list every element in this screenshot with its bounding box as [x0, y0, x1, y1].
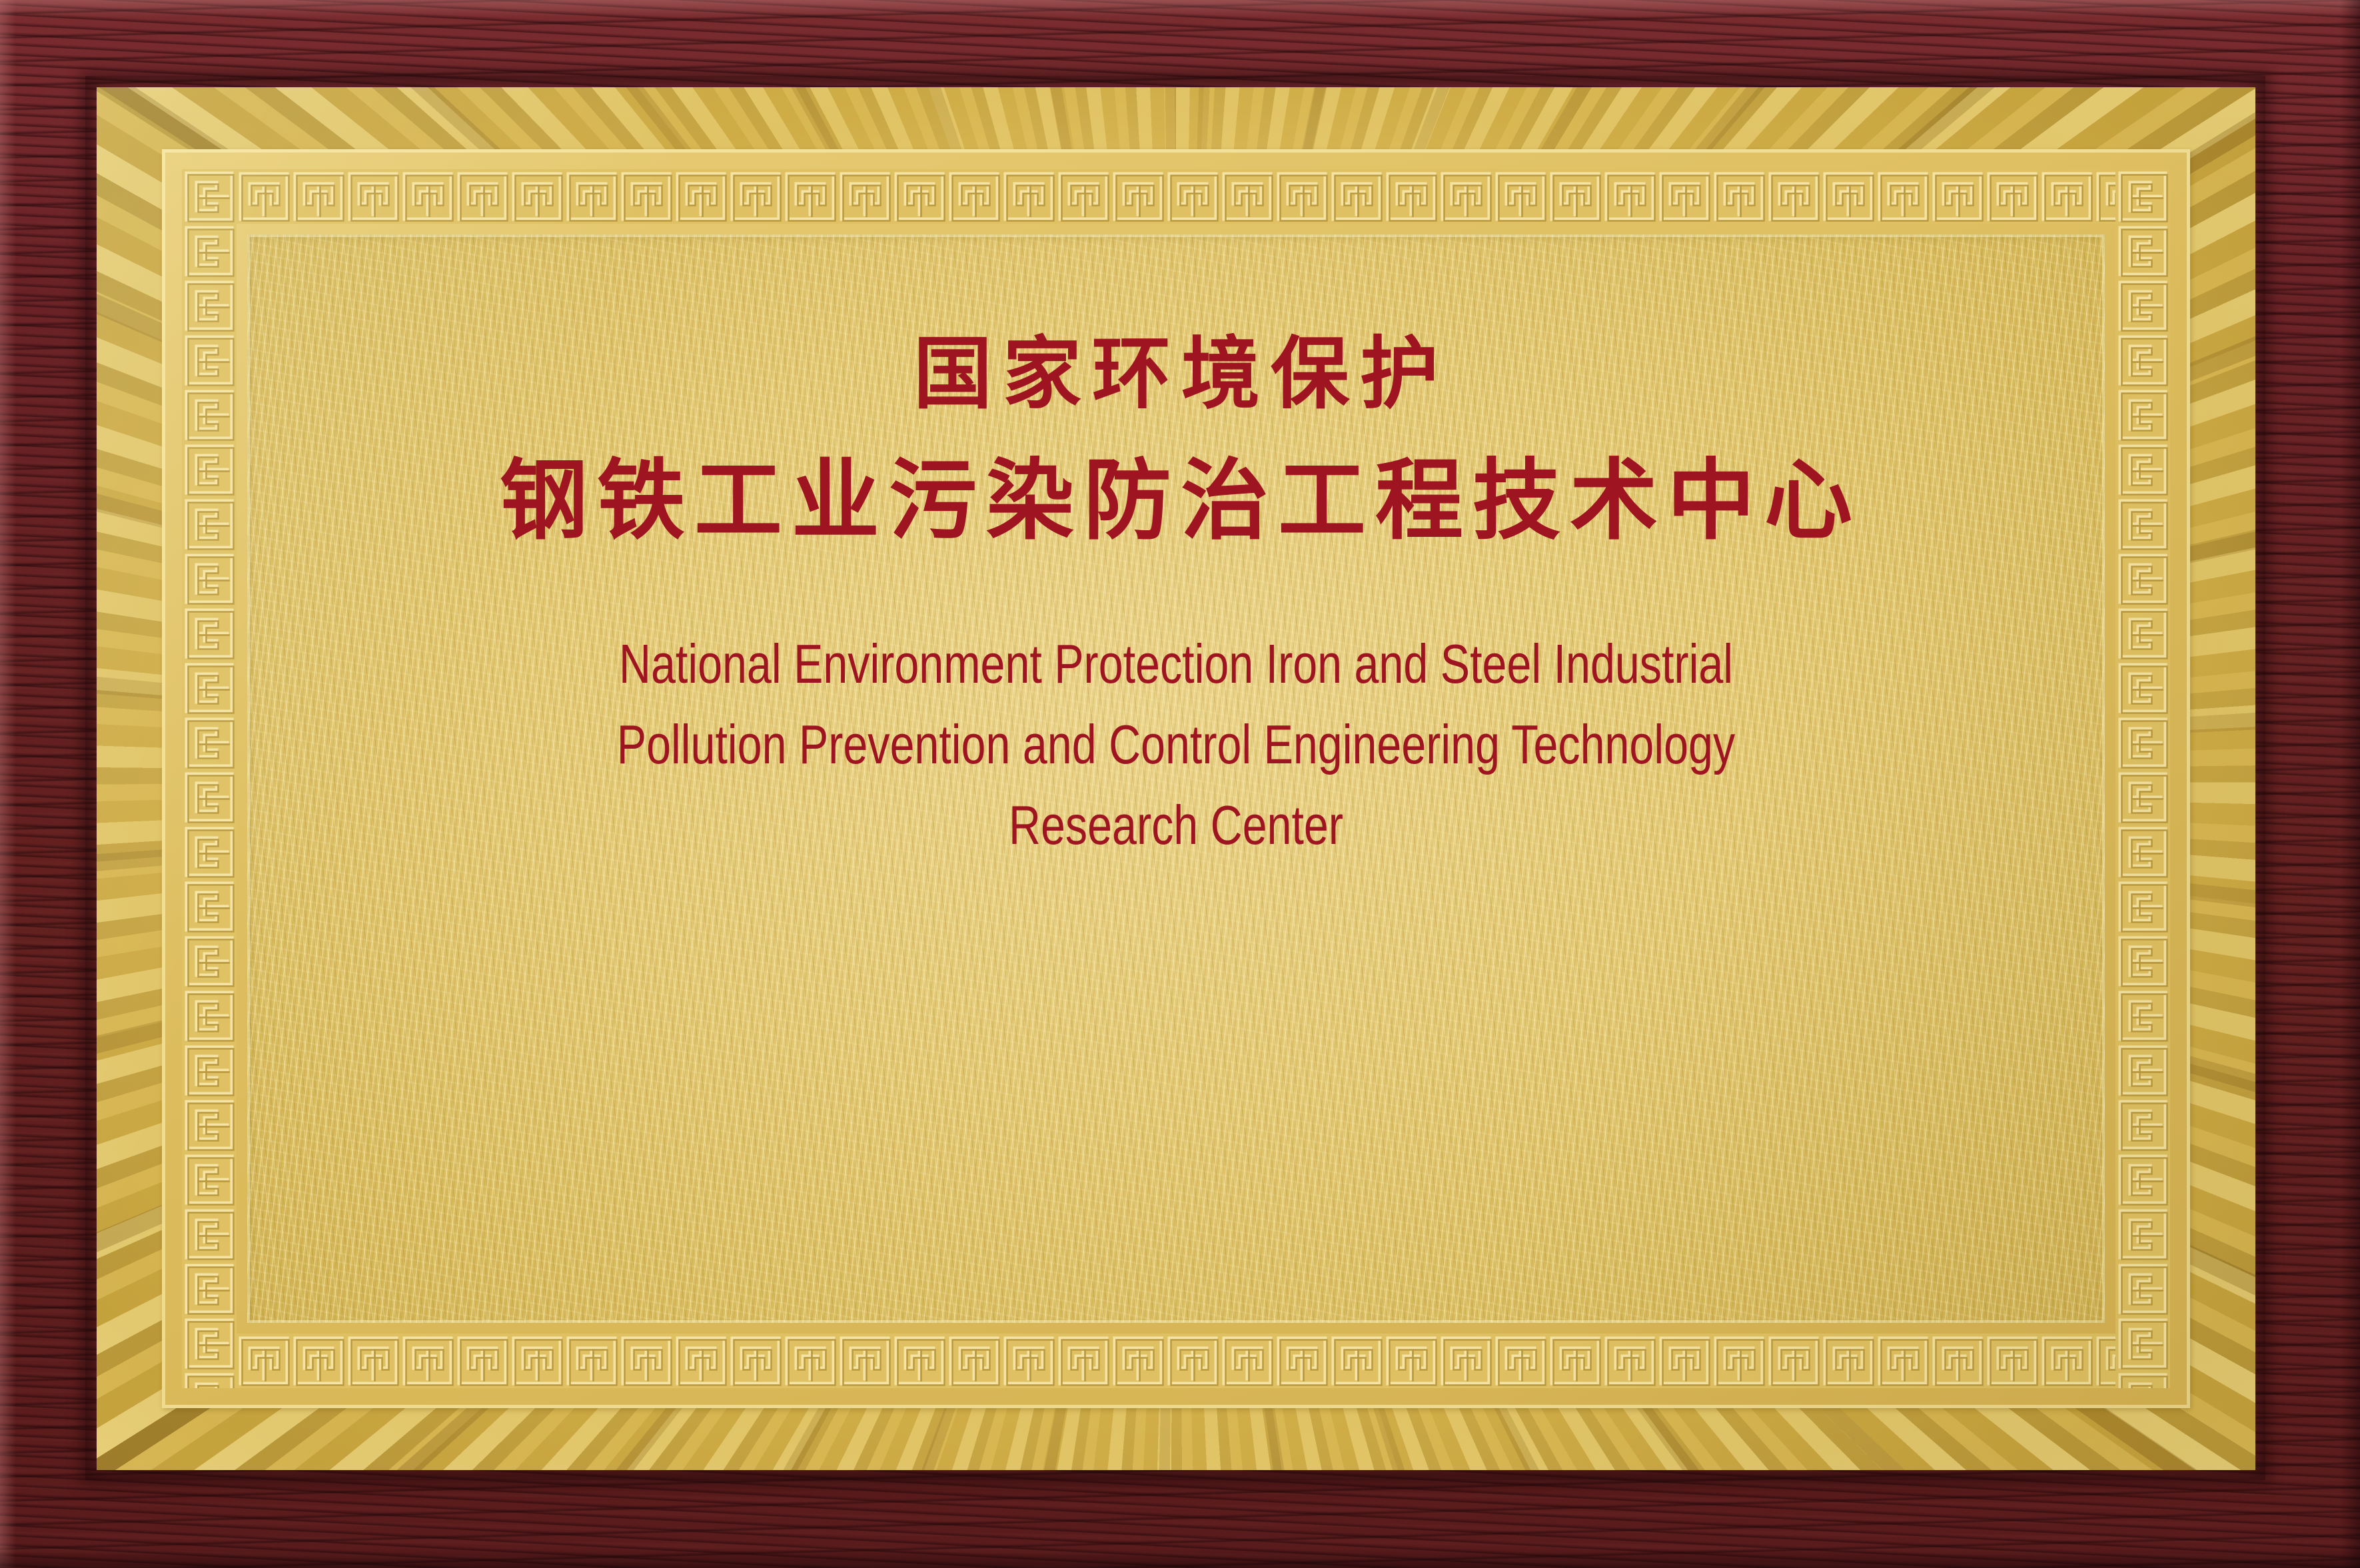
chinese-title-line-1: 国家环境保护 — [247, 334, 2105, 413]
frame-bevel-right — [2340, 0, 2360, 1568]
meander-border-right — [2115, 169, 2170, 1388]
plaque-text-stack: 国家环境保护 钢铁工业污染防治工程技术中心 National Environme… — [247, 334, 2105, 866]
frame-bevel-bottom — [0, 1548, 2360, 1568]
meander-border-frame: 国家环境保护 钢铁工业污染防治工程技术中心 National Environme… — [162, 149, 2190, 1408]
frame-bevel-top — [0, 0, 2360, 17]
english-title-line-2: Pollution Prevention and Control Enginee… — [433, 704, 1919, 785]
inner-text-panel: 国家环境保护 钢铁工业污染防治工程技术中心 National Environme… — [247, 234, 2105, 1323]
english-title-line-3: Research Center — [433, 785, 1919, 865]
gold-plate: 国家环境保护 钢铁工业污染防治工程技术中心 National Environme… — [97, 87, 2255, 1470]
frame-bevel-left — [0, 0, 16, 1568]
english-title-line-1: National Environment Protection Iron and… — [433, 623, 1919, 704]
meander-border-bottom — [182, 1334, 2170, 1388]
meander-border-top — [182, 169, 2170, 224]
meander-border-left — [182, 169, 237, 1388]
award-plaque: 国家环境保护 钢铁工业污染防治工程技术中心 National Environme… — [0, 0, 2360, 1568]
chinese-title-line-2: 钢铁工业污染防治工程技术中心 — [247, 457, 2105, 545]
